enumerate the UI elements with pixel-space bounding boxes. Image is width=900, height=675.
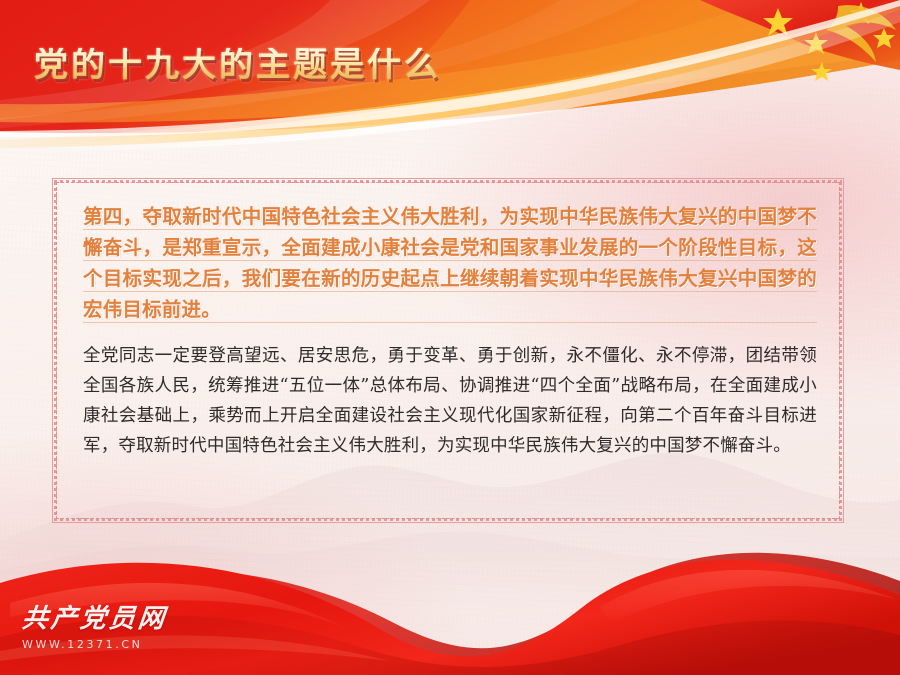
- body-paragraph: 全党同志一定要登高望远、居安思危，勇于变革、勇于创新，永不僵化、永不停滞，团结带…: [83, 341, 817, 461]
- highlight-paragraph: 第四，夺取新时代中国特色社会主义伟大胜利，为实现中华民族伟大复兴的中国梦不懈奋斗…: [83, 201, 817, 325]
- red-silk-waves-graphic: [0, 525, 900, 675]
- header-banner: 党的十九大的主题是什么: [0, 0, 900, 152]
- site-watermark: 共产党员网 WWW.12371.CN: [22, 606, 167, 651]
- site-url: WWW.12371.CN: [22, 638, 167, 651]
- page-title-wrapper: 党的十九大的主题是什么: [34, 48, 441, 82]
- page-title: 党的十九大的主题是什么: [34, 48, 441, 82]
- red-silk-waves: [0, 525, 900, 675]
- content-frame-inner: 第四，夺取新时代中国特色社会主义伟大胜利，为实现中华民族伟大复兴的中国梦不懈奋斗…: [83, 201, 817, 461]
- slide-canvas: 党的十九大的主题是什么 第四，夺取新时代中国特色社会主义伟大胜利，为实现中华民族…: [0, 0, 900, 675]
- content-frame: 第四，夺取新时代中国特色社会主义伟大胜利，为实现中华民族伟大复兴的中国梦不懈奋斗…: [52, 178, 844, 523]
- site-name: 共产党员网: [21, 606, 169, 632]
